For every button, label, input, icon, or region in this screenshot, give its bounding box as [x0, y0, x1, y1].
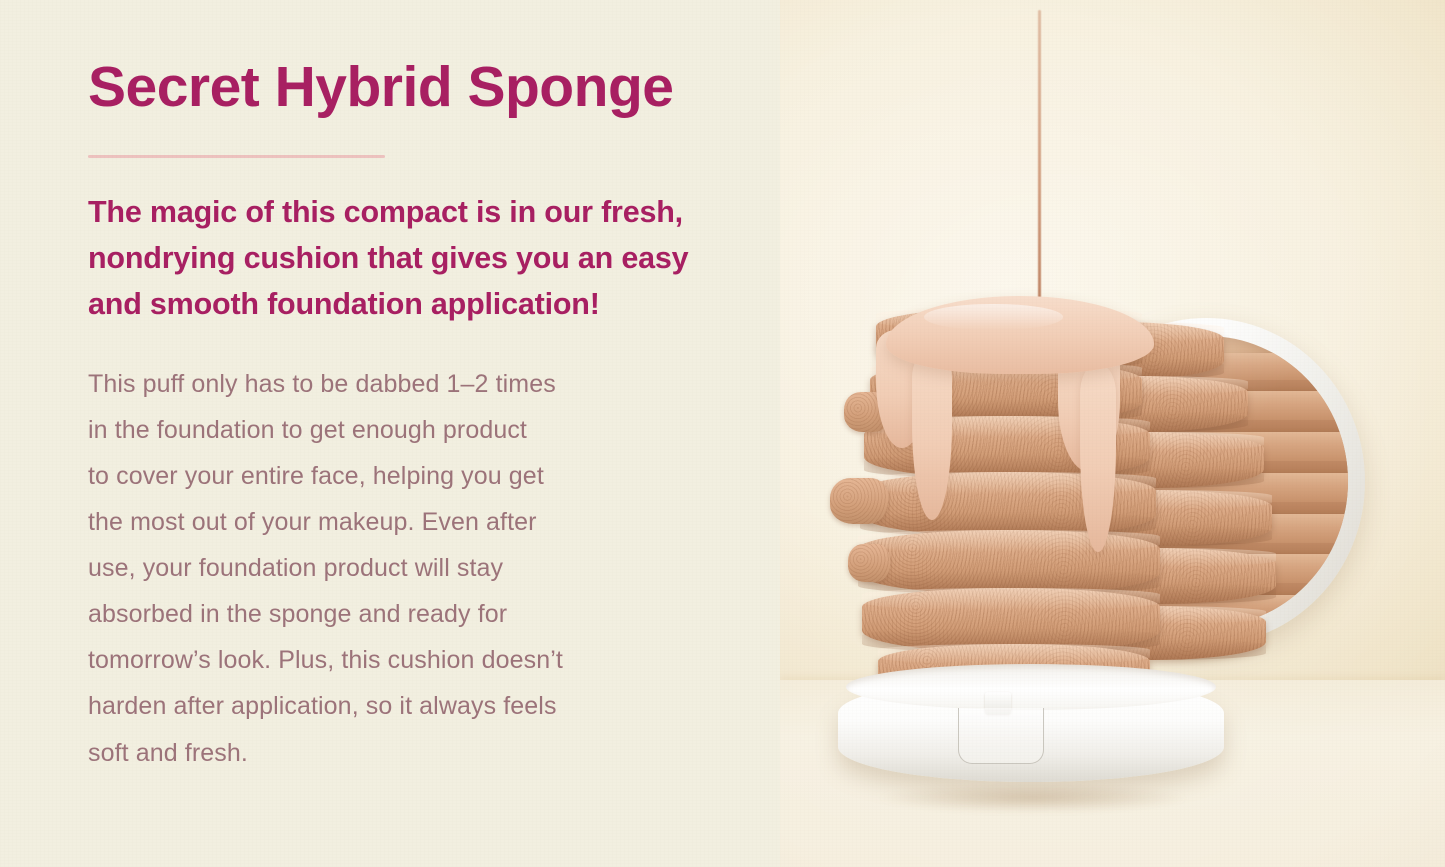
- sponge-disc: [858, 530, 1160, 594]
- body-line: the most out of your makeup. Even after: [88, 499, 748, 545]
- body-line: tomorrow’s look. Plus, this cushion does…: [88, 637, 748, 683]
- sponge-chip: [830, 478, 888, 524]
- page-title: Secret Hybrid Sponge: [88, 58, 768, 117]
- body-copy: This puff only has to be dabbed 1–2 time…: [88, 361, 748, 776]
- body-line: This puff only has to be dabbed 1–2 time…: [88, 361, 748, 407]
- subheading: The magic of this compact is in our fres…: [88, 190, 728, 327]
- body-line: use, your foundation product will stay: [88, 545, 748, 591]
- body-line: soft and fresh.: [88, 730, 748, 776]
- body-line: harden after application, so it always f…: [88, 683, 748, 729]
- title-divider: [88, 155, 385, 158]
- compact-base-case: [838, 664, 1224, 798]
- sponge-chip: [848, 544, 890, 582]
- compact-latch: [958, 708, 1044, 764]
- text-column: Secret Hybrid Sponge The magic of this c…: [88, 58, 768, 776]
- body-line: in the foundation to get enough product: [88, 407, 748, 453]
- promo-card: Secret Hybrid Sponge The magic of this c…: [0, 0, 1445, 867]
- body-line: absorbed in the sponge and ready for: [88, 591, 748, 637]
- sponge-disc: [862, 588, 1160, 652]
- foundation-pour-stream-icon: [1038, 10, 1041, 320]
- body-line: to cover your entire face, helping you g…: [88, 453, 748, 499]
- base-lip: [846, 664, 1217, 710]
